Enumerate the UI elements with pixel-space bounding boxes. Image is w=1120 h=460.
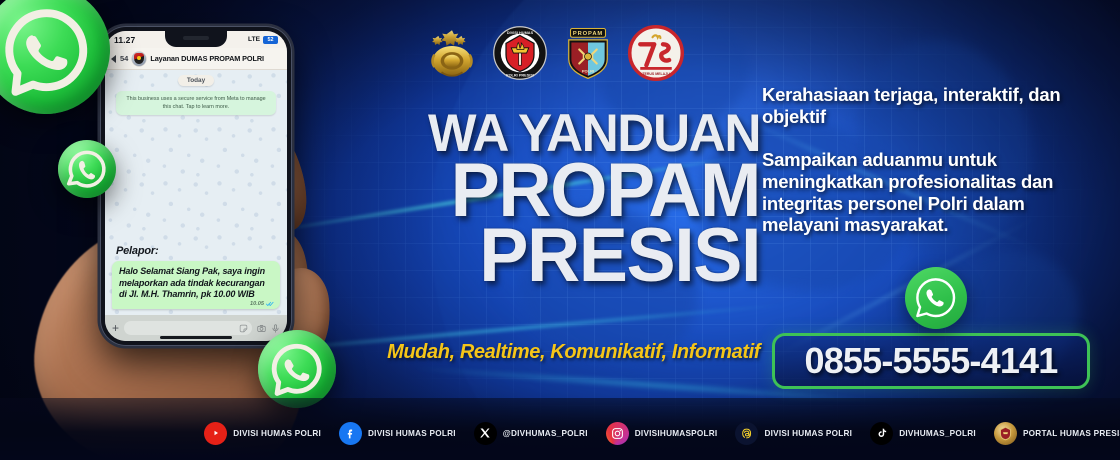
social-link-youtube[interactable]: DIVISI HUMAS POLRI [204, 422, 321, 445]
right-paragraph-2: Sampaikan aduanmu untuk meningkatkan pro… [762, 149, 1092, 236]
youtube-icon[interactable] [204, 422, 227, 445]
message-time: 10.05 [250, 301, 264, 307]
sticker-icon[interactable] [239, 324, 248, 333]
tiktok-icon[interactable] [870, 422, 893, 445]
svg-text:PROPAM: PROPAM [573, 31, 603, 37]
status-indicators: LTE 52 [248, 36, 278, 44]
page-title: WA YANDUAN PROPAM PRESISI [316, 112, 760, 288]
tribrata-polri-emblem [424, 25, 480, 81]
chat-input-bar[interactable]: + [105, 315, 287, 341]
propam-polri-emblem: PROPAM POLRI [560, 25, 616, 81]
unread-count: 54 [120, 54, 128, 63]
network-label: LTE [248, 36, 260, 43]
home-indicator [160, 336, 232, 339]
phone-number-box[interactable]: 0855-5555-4141 [772, 333, 1090, 389]
chat-header[interactable]: 54 Layanan DUMAS PROPAM POLRI [105, 48, 287, 70]
social-link-tiktok[interactable]: DIVHUMAS_POLRI [870, 422, 976, 445]
battery-indicator: 52 [263, 36, 278, 44]
phone-notch [165, 31, 227, 47]
day-divider: Today [178, 75, 214, 86]
facebook-icon[interactable] [339, 422, 362, 445]
social-label: @DIVHUMAS_POLRI [503, 429, 588, 438]
sender-label: Pelapor: [116, 245, 158, 257]
microphone-icon[interactable] [271, 324, 280, 333]
social-link-portal[interactable]: PORTAL HUMAS PRESISI [994, 422, 1120, 445]
right-text-column: Kerahasiaan terjaga, interaktif, dan obj… [762, 84, 1092, 236]
svg-text:POLRI PRESISI: POLRI PRESISI [506, 74, 534, 78]
message-text: Halo Selamat Siang Pak, saya ingin melap… [119, 266, 273, 301]
business-notice[interactable]: This business uses a secure service from… [116, 91, 276, 115]
message-bubble: Halo Selamat Siang Pak, saya ingin melap… [112, 261, 280, 309]
message-input[interactable] [124, 321, 252, 335]
threads-icon[interactable] [735, 422, 758, 445]
whatsapp-badge-icon [905, 267, 967, 329]
divisi-humas-polri-emblem: DIVISI HUMAS POLRI PRESISI [492, 25, 548, 81]
phone-number: 0855-5555-4141 [804, 340, 1057, 382]
social-link-instagram[interactable]: DIVISIHUMASPOLRI [606, 422, 718, 445]
svg-text:TERUS MELAJU: TERUS MELAJU [642, 72, 670, 76]
social-link-x[interactable]: @DIVHUMAS_POLRI [474, 422, 588, 445]
phone-screen: 11.27 LTE 52 54 Layanan DUMAS PROPAM POL… [105, 31, 287, 341]
headline-line-3: PRESISI [329, 224, 760, 288]
social-label: PORTAL HUMAS PRESISI [1023, 429, 1120, 438]
emblem-row: DIVISI HUMAS POLRI PRESISI PROPAM POLRI [424, 22, 664, 84]
social-links-row: DIVISI HUMAS POLRI DIVISI HUMAS POLRI @D… [0, 416, 1120, 450]
propam-avatar[interactable] [132, 52, 146, 66]
right-paragraph-1: Kerahasiaan terjaga, interaktif, dan obj… [762, 84, 1092, 127]
svg-text:POLRI: POLRI [582, 68, 594, 73]
tagline: Mudah, Realtime, Komunikatif, Informatif [316, 341, 760, 364]
back-arrow-icon[interactable] [111, 55, 116, 63]
social-link-facebook[interactable]: DIVISI HUMAS POLRI [339, 422, 456, 445]
status-time: 11.27 [114, 35, 135, 45]
chat-title: Layanan DUMAS PROPAM POLRI [150, 54, 264, 63]
social-label: DIVISI HUMAS POLRI [233, 429, 321, 438]
x-twitter-icon[interactable] [474, 422, 497, 445]
svg-text:DIVISI HUMAS: DIVISI HUMAS [507, 31, 534, 35]
phone-statusbar: 11.27 LTE 52 [105, 31, 287, 48]
plus-icon[interactable]: + [112, 322, 119, 334]
social-label: DIVISIHUMASPOLRI [635, 429, 718, 438]
chat-body: Today This business uses a secure servic… [105, 70, 287, 315]
social-label: DIVISI HUMAS POLRI [368, 429, 456, 438]
social-label: DIVHUMAS_POLRI [899, 429, 976, 438]
portal-humas-presisi-icon[interactable] [994, 422, 1017, 445]
phone-mockup: 11.27 LTE 52 54 Layanan DUMAS PROPAM POL… [100, 26, 292, 346]
hut-ri-78-emblem: TERUS MELAJU [628, 25, 684, 81]
message-meta: 10.05 [250, 301, 274, 307]
wa-yanduan-propam-banner: 11.27 LTE 52 54 Layanan DUMAS PROPAM POL… [0, 0, 1120, 460]
read-receipt-icon [266, 301, 274, 307]
social-label: DIVISI HUMAS POLRI [764, 429, 852, 438]
instagram-icon[interactable] [606, 422, 629, 445]
social-link-threads[interactable]: DIVISI HUMAS POLRI [735, 422, 852, 445]
camera-icon[interactable] [257, 324, 266, 333]
